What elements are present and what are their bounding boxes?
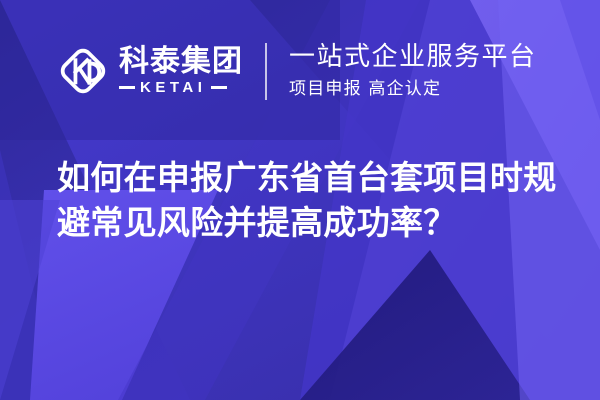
- brand-logo: 科泰集团 KETAI: [56, 40, 243, 102]
- headline: 如何在申报广东省首台套项目时规 避常见风险并提高成功率？: [57, 155, 557, 245]
- tagline-primary: 一站式企业服务平台: [289, 43, 537, 73]
- brand-name-en: KETAI: [140, 80, 206, 95]
- logo-rule-left-icon: [119, 86, 135, 89]
- brand-name-cn: 科泰集团: [119, 47, 243, 78]
- headline-line-1: 如何在申报广东省首台套项目时规: [57, 155, 557, 200]
- tagline-secondary: 项目申报 高企认定: [289, 79, 537, 99]
- headline-line-2: 避常见风险并提高成功率？: [57, 200, 557, 245]
- vertical-divider-icon: [265, 43, 267, 100]
- brand-wordmark: 科泰集团 KETAI: [119, 43, 243, 99]
- tagline-block: 一站式企业服务平台 项目申报 高企认定: [289, 40, 537, 102]
- logo-rule-right-icon: [211, 86, 227, 89]
- banner-header: 科泰集团 KETAI 一站式企业服务平台 项目申报 高企认定: [56, 36, 537, 106]
- ketai-diamond-kd-monogram-icon: [56, 44, 110, 98]
- promo-banner: 科泰集团 KETAI 一站式企业服务平台 项目申报 高企认定 如何在申报广东省首…: [0, 0, 600, 400]
- brand-name-en-row: KETAI: [119, 80, 243, 95]
